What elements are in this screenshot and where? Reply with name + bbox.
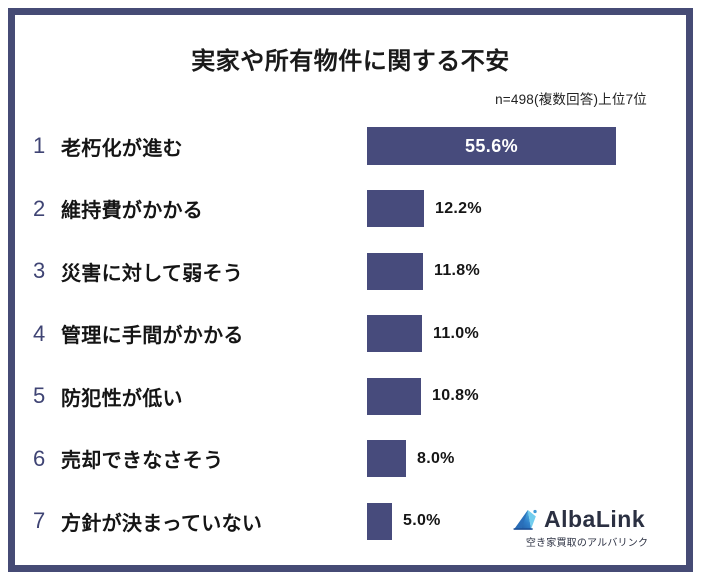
bar-value-label: 10.8% [432, 387, 479, 405]
chart-row: 4管理に手間がかかる11.0% [15, 303, 686, 366]
bar-value-label: 12.2% [435, 200, 482, 218]
bar: 55.6% [367, 127, 616, 165]
bar-value-label: 11.0% [433, 325, 479, 343]
bar-value-label: 8.0% [417, 450, 455, 468]
bar-value-label: 5.0% [403, 512, 441, 530]
rank-number: 2 [15, 196, 61, 222]
bar [367, 378, 421, 415]
logo-wordmark: AlbaLink [544, 508, 645, 531]
chart-subtitle-sample-size: n=498(複数回答)上位7位 [495, 88, 647, 108]
chart-row: 3災害に対して弱そう11.8% [15, 240, 686, 303]
bar-zone: 12.2% [367, 178, 686, 241]
bar [367, 503, 392, 540]
chart-row: 1老朽化が進む55.6% [15, 115, 686, 178]
rank-number: 4 [15, 321, 61, 347]
chart-title: 実家や所有物件に関する不安 [15, 41, 686, 76]
category-label: 管理に手間がかかる [61, 319, 367, 348]
chart-row: 5防犯性が低い10.8% [15, 365, 686, 428]
category-label: 売却できなさそう [61, 444, 367, 473]
category-label: 維持費がかかる [61, 194, 367, 223]
chart-row: 2維持費がかかる12.2% [15, 178, 686, 241]
rank-number: 5 [15, 383, 61, 409]
bar-value-label: 11.8% [434, 262, 480, 280]
rank-number: 6 [15, 446, 61, 472]
logo-top-line: AlbaLink [512, 508, 662, 531]
chart-body: 実家や所有物件に関する不安 n=498(複数回答)上位7位 1老朽化が進む55.… [15, 15, 686, 565]
bar [367, 315, 422, 352]
chart-rows: 1老朽化が進む55.6%2維持費がかかる12.2%3災害に対して弱そう11.8%… [15, 115, 686, 553]
bar [367, 440, 406, 477]
category-label: 防犯性が低い [61, 382, 367, 411]
bar-zone: 10.8% [367, 365, 686, 428]
category-label: 方針が決まっていない [61, 507, 367, 536]
category-label: 災害に対して弱そう [61, 257, 367, 286]
albalink-mountain-icon [512, 508, 539, 531]
bar [367, 190, 424, 227]
bar-zone: 8.0% [367, 428, 686, 491]
rank-number: 7 [15, 508, 61, 534]
bar-zone: 11.8% [367, 240, 686, 303]
logo-tagline: 空き家買取のアルバリンク [512, 534, 662, 549]
chart-card: 実家や所有物件に関する不安 n=498(複数回答)上位7位 1老朽化が進む55.… [8, 8, 693, 572]
bar [367, 253, 423, 290]
albalink-logo: AlbaLink 空き家買取のアルバリンク [512, 508, 662, 549]
chart-row: 6売却できなさそう8.0% [15, 428, 686, 491]
category-label: 老朽化が進む [61, 132, 367, 161]
bar-zone: 55.6% [367, 115, 686, 178]
bar-value-label: 55.6% [465, 136, 518, 157]
rank-number: 1 [15, 133, 61, 159]
rank-number: 3 [15, 258, 61, 284]
bar-zone: 11.0% [367, 303, 686, 366]
